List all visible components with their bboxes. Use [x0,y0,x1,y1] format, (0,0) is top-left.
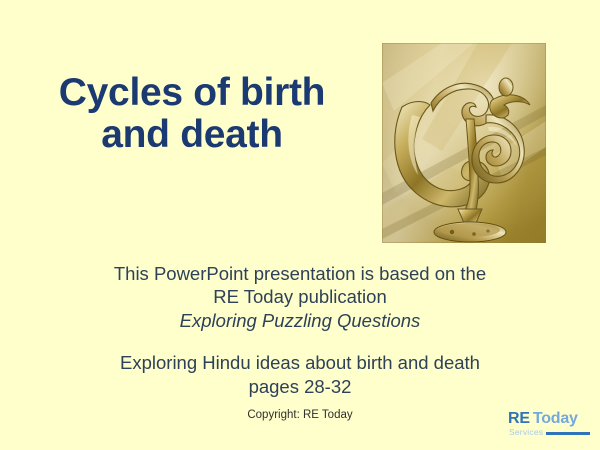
logo-text-services: Services [509,428,543,437]
logo-wordmark: REToday [508,411,592,427]
slide-body-text: This PowerPoint presentation is based on… [50,262,550,398]
logo-text-today: Today [533,410,578,427]
body-spacer [50,332,550,351]
body-line-4: pages 28-32 [50,375,550,398]
slide-title-line-2: and death [22,114,362,156]
body-paragraph-2: Exploring Hindu ideas about birth and de… [50,351,550,398]
logo-text-re: RE [508,410,530,427]
logo-underline-bar [546,432,590,435]
presentation-slide: Cycles of birth and death [0,0,600,450]
slide-title-line-1: Cycles of birth [22,72,362,114]
body-line-3: Exploring Hindu ideas about birth and de… [50,351,550,374]
om-symbol-icon [382,43,546,243]
body-line-2: RE Today publication [50,285,550,308]
slide-title: Cycles of birth and death [22,72,362,156]
om-symbol-image [382,43,546,243]
logo-tagline-row: Services [508,428,592,438]
publication-title: Exploring Puzzling Questions [50,309,550,332]
copyright-notice: Copyright: RE Today [50,409,550,423]
body-line-1: This PowerPoint presentation is based on… [50,262,550,285]
body-paragraph-1: This PowerPoint presentation is based on… [50,262,550,332]
re-today-services-logo: REToday Services [508,411,592,441]
